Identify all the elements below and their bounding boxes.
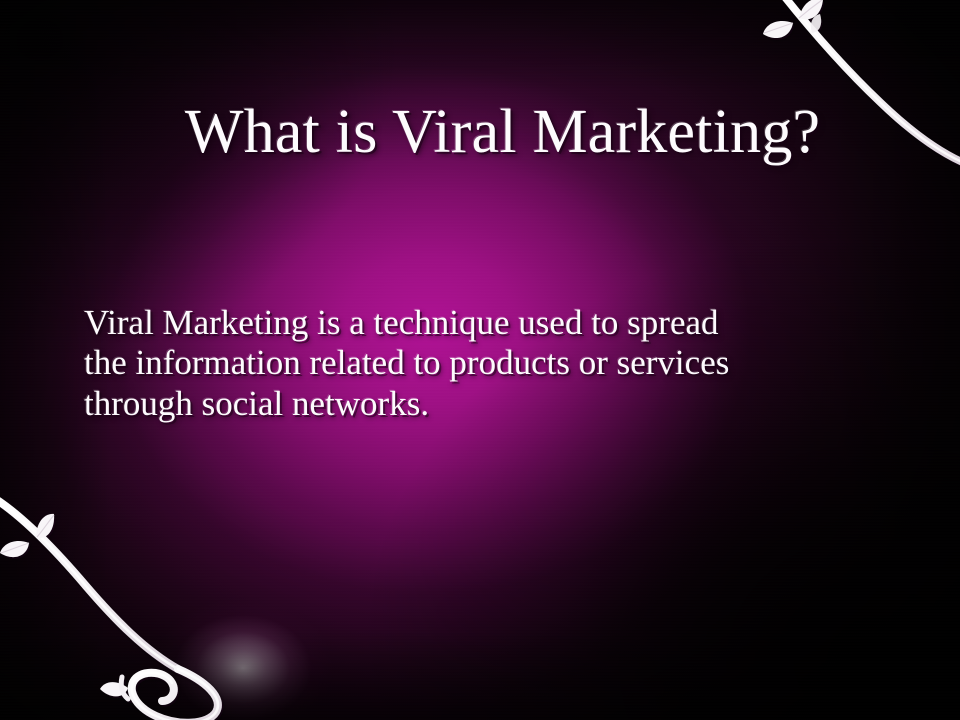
vine-flourish-bottom-left-icon — [0, 470, 300, 720]
body-line: the information related to products or s… — [84, 343, 884, 383]
slide-title: What is Viral Marketing? — [185, 101, 820, 164]
presentation-slide: What is Viral Marketing? Viral Marketing… — [0, 0, 960, 720]
body-line: Viral Marketing is a technique used to s… — [84, 303, 884, 343]
body-line: through social networks. — [84, 384, 884, 424]
slide-body-text: Viral Marketing is a technique used to s… — [84, 303, 884, 424]
